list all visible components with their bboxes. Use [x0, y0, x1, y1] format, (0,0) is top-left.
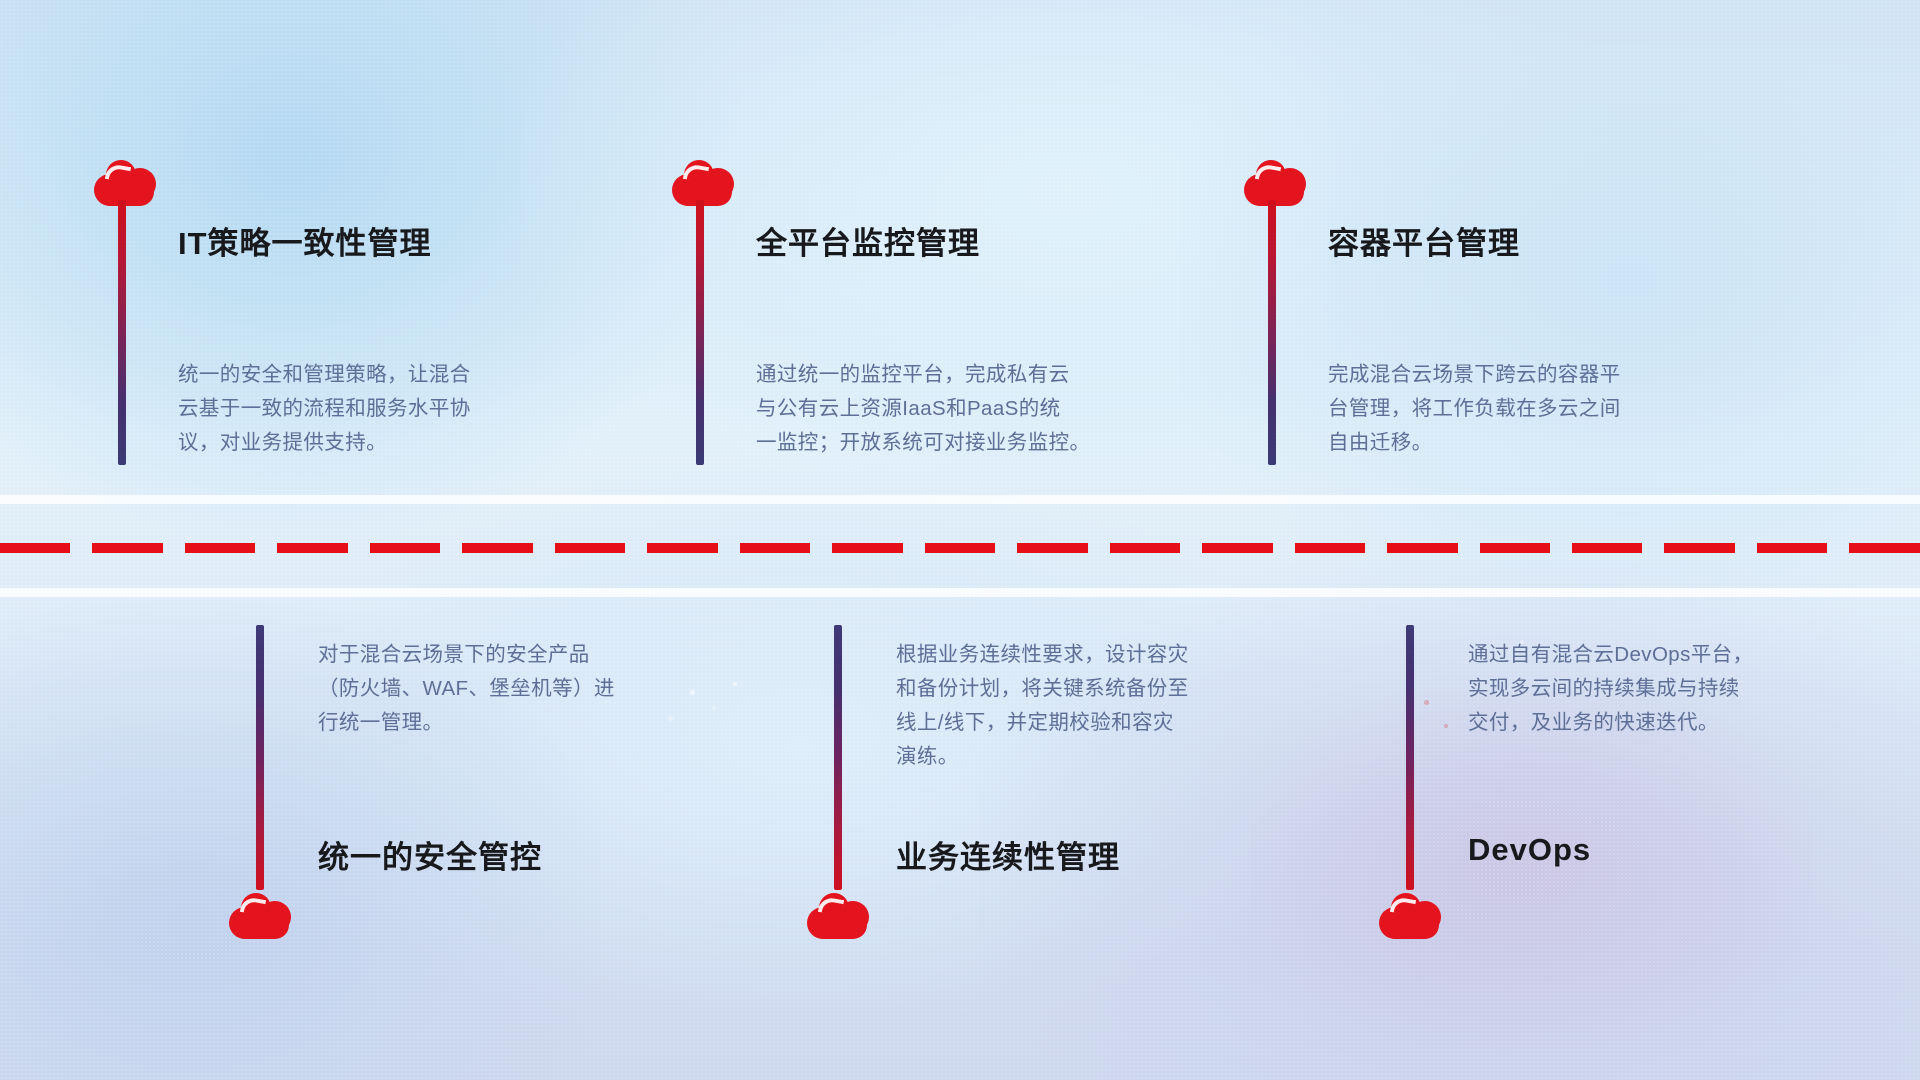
body-line: 自由迁移。 — [1328, 426, 1621, 460]
dash-segment — [185, 543, 255, 553]
dash-segment — [925, 543, 995, 553]
dash-segment — [1017, 543, 1087, 553]
dash-segment — [370, 543, 440, 553]
dash-segment — [832, 543, 902, 553]
top-item-3-body: 完成混合云场景下跨云的容器平 台管理，将工作负载在多云之间 自由迁移。 — [1328, 358, 1621, 460]
dashed-separator — [0, 543, 1920, 553]
dash-segment — [1572, 543, 1642, 553]
dash-segment — [740, 543, 810, 553]
cloud-icon — [229, 893, 291, 939]
body-line: 和备份计划，将关键系统备份至 — [896, 672, 1189, 706]
dash-segment — [277, 543, 347, 553]
body-line: 云基于一致的流程和服务水平协 — [178, 392, 471, 426]
body-line: 完成混合云场景下跨云的容器平 — [1328, 358, 1621, 392]
bottom-item-2-heading: 业务连续性管理 — [896, 832, 1120, 877]
top-item-2-heading: 全平台监控管理 — [756, 218, 980, 263]
body-line: （防火墙、WAF、堡垒机等）进 — [318, 672, 615, 706]
cloud-icon — [94, 160, 156, 206]
dash-segment — [1849, 543, 1919, 553]
dash-segment — [1202, 543, 1272, 553]
dash-segment — [1110, 543, 1180, 553]
body-line: 通过统一的监控平台，完成私有云 — [756, 358, 1090, 392]
bottom-item-1-heading: 统一的安全管控 — [318, 832, 542, 877]
connector-line — [1268, 200, 1276, 465]
cloud-icon — [1244, 160, 1306, 206]
body-line: 行统一管理。 — [318, 706, 615, 740]
connector-line — [118, 200, 126, 465]
top-item-2-body: 通过统一的监控平台，完成私有云 与公有云上资源IaaS和PaaS的统 一监控；开… — [756, 358, 1090, 460]
connector-line — [256, 625, 264, 890]
connector-line — [834, 625, 842, 890]
bottom-item-1-body: 对于混合云场景下的安全产品 （防火墙、WAF、堡垒机等）进 行统一管理。 — [318, 638, 615, 740]
divider-rail-top — [0, 495, 1920, 504]
cloud-icon — [807, 893, 869, 939]
body-line: 实现多云间的持续集成与持续 — [1468, 672, 1753, 706]
body-line: 对于混合云场景下的安全产品 — [318, 638, 615, 672]
body-line: 根据业务连续性要求，设计容灾 — [896, 638, 1189, 672]
top-item-1-body: 统一的安全和管理策略，让混合 云基于一致的流程和服务水平协 议，对业务提供支持。 — [178, 358, 471, 460]
dash-segment — [1664, 543, 1734, 553]
cloud-icon — [1379, 893, 1441, 939]
connector-line — [696, 200, 704, 465]
bottom-item-2-body: 根据业务连续性要求，设计容灾 和备份计划，将关键系统备份至 线上/线下，并定期校… — [896, 638, 1189, 774]
divider-rail-bottom — [0, 588, 1920, 597]
body-line: 议，对业务提供支持。 — [178, 426, 471, 460]
top-item-1-heading: IT策略一致性管理 — [178, 218, 432, 263]
connector-line — [1406, 625, 1414, 890]
dash-segment — [1295, 543, 1365, 553]
bottom-item-3-body: 通过自有混合云DevOps平台， 实现多云间的持续集成与持续 交付，及业务的快速… — [1468, 638, 1753, 740]
body-line: 台管理，将工作负载在多云之间 — [1328, 392, 1621, 426]
body-line: 一监控；开放系统可对接业务监控。 — [756, 426, 1090, 460]
body-line: 通过自有混合云DevOps平台， — [1468, 638, 1753, 672]
dash-segment — [555, 543, 625, 553]
dash-segment — [0, 543, 70, 553]
top-item-3-heading: 容器平台管理 — [1328, 218, 1520, 263]
dash-segment — [1387, 543, 1457, 553]
dash-segment — [1757, 543, 1827, 553]
dash-segment — [92, 543, 162, 553]
dash-segment — [1480, 543, 1550, 553]
body-line: 演练。 — [896, 740, 1189, 774]
body-line: 线上/线下，并定期校验和容灾 — [896, 706, 1189, 740]
body-line: 统一的安全和管理策略，让混合 — [178, 358, 471, 392]
body-line: 交付，及业务的快速迭代。 — [1468, 706, 1753, 740]
infographic-canvas: IT策略一致性管理 统一的安全和管理策略，让混合 云基于一致的流程和服务水平协 … — [0, 0, 1920, 1080]
dash-segment — [462, 543, 532, 553]
body-line: 与公有云上资源IaaS和PaaS的统 — [756, 392, 1090, 426]
bottom-item-3-heading: DevOps — [1468, 832, 1591, 868]
dash-segment — [647, 543, 717, 553]
cloud-icon — [672, 160, 734, 206]
